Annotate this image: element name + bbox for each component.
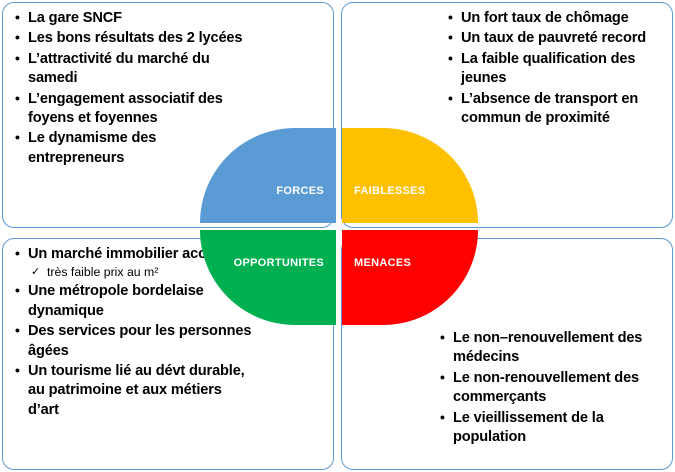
list-item: Les bons résultats des 2 lycées (15, 29, 247, 48)
swot-diagram: La gare SNCF Les bons résultats des 2 ly… (0, 0, 675, 472)
list-item: La gare SNCF (15, 9, 247, 28)
list-item: L’engagement associatif des foyens et fo… (15, 90, 247, 129)
list-item: L’attractivité du marché du samedi (15, 50, 247, 89)
list-item: Un marché immobilier accessible (15, 245, 255, 264)
quadrant-strengths: La gare SNCF Les bons résultats des 2 ly… (2, 2, 334, 228)
quadrant-weaknesses: Un fort taux de chômage Un taux de pauvr… (341, 2, 673, 228)
list-item: Un fort taux de chômage (448, 9, 666, 28)
strengths-list: La gare SNCF Les bons résultats des 2 ly… (15, 9, 247, 169)
list-item: Des services pour les personnes âgées (15, 322, 255, 361)
list-item: Une métropole bordelaise dynamique (15, 282, 255, 321)
opportunities-list: Un marché immobilier accessible très fai… (15, 245, 255, 421)
list-item: Un tourisme lié au dévt durable, au patr… (15, 362, 255, 420)
weaknesses-list: Un fort taux de chômage Un taux de pauvr… (448, 9, 666, 129)
quadrant-threats: Le non–renouvellement des médecins Le no… (341, 238, 673, 470)
list-item: Le non-renouvellement des commerçants (440, 369, 668, 408)
threats-list: Le non–renouvellement des médecins Le no… (440, 329, 668, 448)
list-item: Le vieillissement de la population (440, 409, 668, 448)
list-item: Le non–renouvellement des médecins (440, 329, 668, 368)
list-item: La faible qualification des jeunes (448, 50, 666, 89)
quadrant-opportunities: Un marché immobilier accessible très fai… (2, 238, 334, 470)
list-item: Le dynamisme des entrepreneurs (15, 129, 247, 168)
list-item: Un taux de pauvreté record (448, 29, 666, 48)
list-item: L’absence de transport en commun de prox… (448, 90, 666, 129)
list-sub-item: très faible prix au m² (15, 265, 255, 281)
